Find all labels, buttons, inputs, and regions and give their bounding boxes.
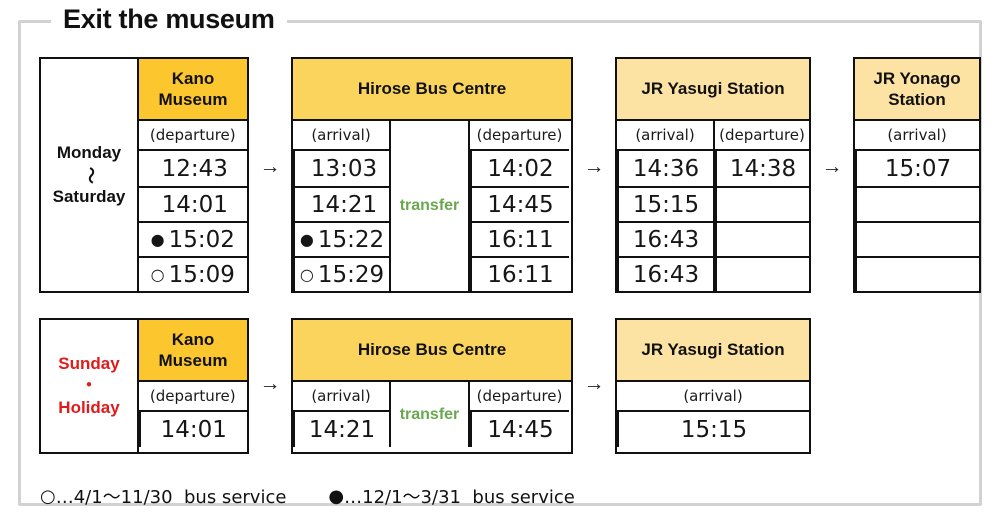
cell-yasugi-arrival: 15:15 [617,186,713,221]
yasugi-group-weekday: JR Yasugi Station (arrival) 14:36 15:15 … [615,57,811,293]
day-label-holiday: Sunday ・ Holiday [41,320,137,452]
cell-kano-departure: ○15:09 [139,258,247,291]
time-value: 15:09 [169,262,235,288]
service-mark: ○ [300,267,314,283]
cell-hirose-departure: 16:11 [470,221,569,256]
station-header-hirose-bus-centre: Hirose Bus Centre [293,320,571,382]
transfer-label: transfer [389,121,470,291]
filled-circle-icon: ● [328,486,344,507]
cell-yonago-arrival [855,256,979,291]
time-value: 13:03 [311,156,377,182]
arrow-icon: → [249,366,291,401]
station-name-line1: Kano [172,329,215,350]
arrow-column-2: → [573,57,615,293]
cell-yonago-arrival: 15:07 [855,151,979,186]
subheader-yonago-arrival: (arrival) [855,121,979,151]
time-value: 12:43 [162,156,228,182]
day-label-wave: 〜 [80,167,99,184]
subheader-hirose-arrival: (arrival) [293,121,389,151]
arrow-column-1: → [249,57,291,293]
service-mark: ○ [151,267,165,283]
station-header-jr-yonago: JR Yonago Station [855,59,979,121]
station-header-kano-museum: Kano Museum [139,320,247,382]
station-header-jr-yasugi: JR Yasugi Station [617,320,809,382]
subheader-kano-departure: (departure) [139,382,247,412]
cell-kano-departure: 12:43 [139,151,247,186]
yonago-group-weekday: JR Yonago Station (arrival) 15:07 [853,57,981,293]
cell-hirose-departure: 14:45 [470,186,569,221]
service-legend: ○…4/1〜11/30 bus service ●…12/1〜3/31 bus … [40,483,575,509]
arrow-column-2: → [573,318,615,454]
station-header-kano-museum: Kano Museum [139,59,247,121]
cell-yonago-arrival [855,221,979,256]
subheader-yasugi-departure: (departure) [715,121,809,151]
cell-yasugi-arrival: 15:15 [617,412,809,447]
yasugi-group-holiday: JR Yasugi Station (arrival) 15:15 [615,318,811,454]
weekday-day-and-kano-group: Monday 〜 Saturday Kano Museum (departure… [39,57,249,293]
legend-open-text: …4/1〜11/30 bus service [56,483,287,509]
day-label-line1: Monday [57,140,121,166]
cell-hirose-arrival: 14:21 [293,412,389,447]
day-label-line2: Holiday [58,395,119,421]
hirose-group-holiday: Hirose Bus Centre (arrival) 14:21 transf… [291,318,573,454]
time-value: 15:22 [318,227,384,253]
time-value: 15:02 [169,227,235,253]
cell-yonago-arrival [855,186,979,221]
arrow-column-1: → [249,318,291,454]
day-label-line1: Sunday [58,351,119,377]
subheader-hirose-departure: (departure) [470,382,569,412]
cell-yasugi-departure [715,221,809,256]
subheader-kano-departure: (departure) [139,121,247,149]
cell-hirose-arrival: 14:21 [293,186,389,221]
day-label-line2: Saturday [53,184,126,210]
cell-yasugi-arrival: 16:43 [617,221,713,256]
station-name-line1: JR Yonago [873,68,960,89]
cell-hirose-departure: 14:45 [470,412,569,447]
service-mark: ● [300,232,314,248]
cell-hirose-arrival: ○15:29 [293,256,389,291]
open-circle-icon: ○ [40,486,56,507]
service-mark: ● [151,232,165,248]
cell-yasugi-departure [715,256,809,291]
time-value: 14:01 [162,192,228,218]
cell-yasugi-arrival: 16:43 [617,256,713,291]
cell-hirose-departure: 16:11 [470,256,569,291]
station-name-line2: Museum [159,350,228,371]
time-value: 14:21 [311,192,377,218]
subheader-hirose-departure: (departure) [470,121,569,151]
hirose-group-weekday: Hirose Bus Centre (arrival) 13:03 14:21 … [291,57,573,293]
arrow-icon: → [811,149,853,184]
subheader-yasugi-arrival: (arrival) [617,121,713,151]
day-label-separator: ・ [81,377,98,396]
weekday-timetable: Monday 〜 Saturday Kano Museum (departure… [39,57,981,293]
legend-filled-text: …12/1〜3/31 bus service [344,483,575,509]
holiday-timetable: Sunday ・ Holiday Kano Museum (departure)… [39,318,811,454]
cell-hirose-arrival: 13:03 [293,151,389,186]
arrow-icon: → [573,149,615,184]
transfer-label: transfer [389,382,470,447]
subheader-yasugi-arrival: (arrival) [617,382,809,412]
day-label-weekday: Monday 〜 Saturday [41,59,137,291]
station-header-jr-yasugi: JR Yasugi Station [617,59,809,121]
page-title: Exit the museum [51,4,287,34]
cell-kano-departure: 14:01 [139,188,247,221]
cell-kano-departure: ●15:02 [139,223,247,256]
cell-yasugi-departure [715,186,809,221]
cell-hirose-departure: 14:02 [470,151,569,186]
station-name-line2: Station [888,89,946,110]
station-header-hirose-bus-centre: Hirose Bus Centre [293,59,571,121]
arrow-icon: → [573,366,615,401]
station-name-line2: Museum [159,89,228,110]
cell-yasugi-departure: 14:38 [715,151,809,186]
time-value: 15:29 [318,262,384,288]
cell-kano-departure: 14:01 [139,412,247,447]
holiday-day-and-kano-group: Sunday ・ Holiday Kano Museum (departure)… [39,318,249,454]
cell-yasugi-arrival: 14:36 [617,151,713,186]
arrow-icon: → [249,149,291,184]
station-name-line1: Kano [172,68,215,89]
cell-hirose-arrival: ●15:22 [293,221,389,256]
subheader-hirose-arrival: (arrival) [293,382,389,412]
arrow-column-3: → [811,57,853,293]
